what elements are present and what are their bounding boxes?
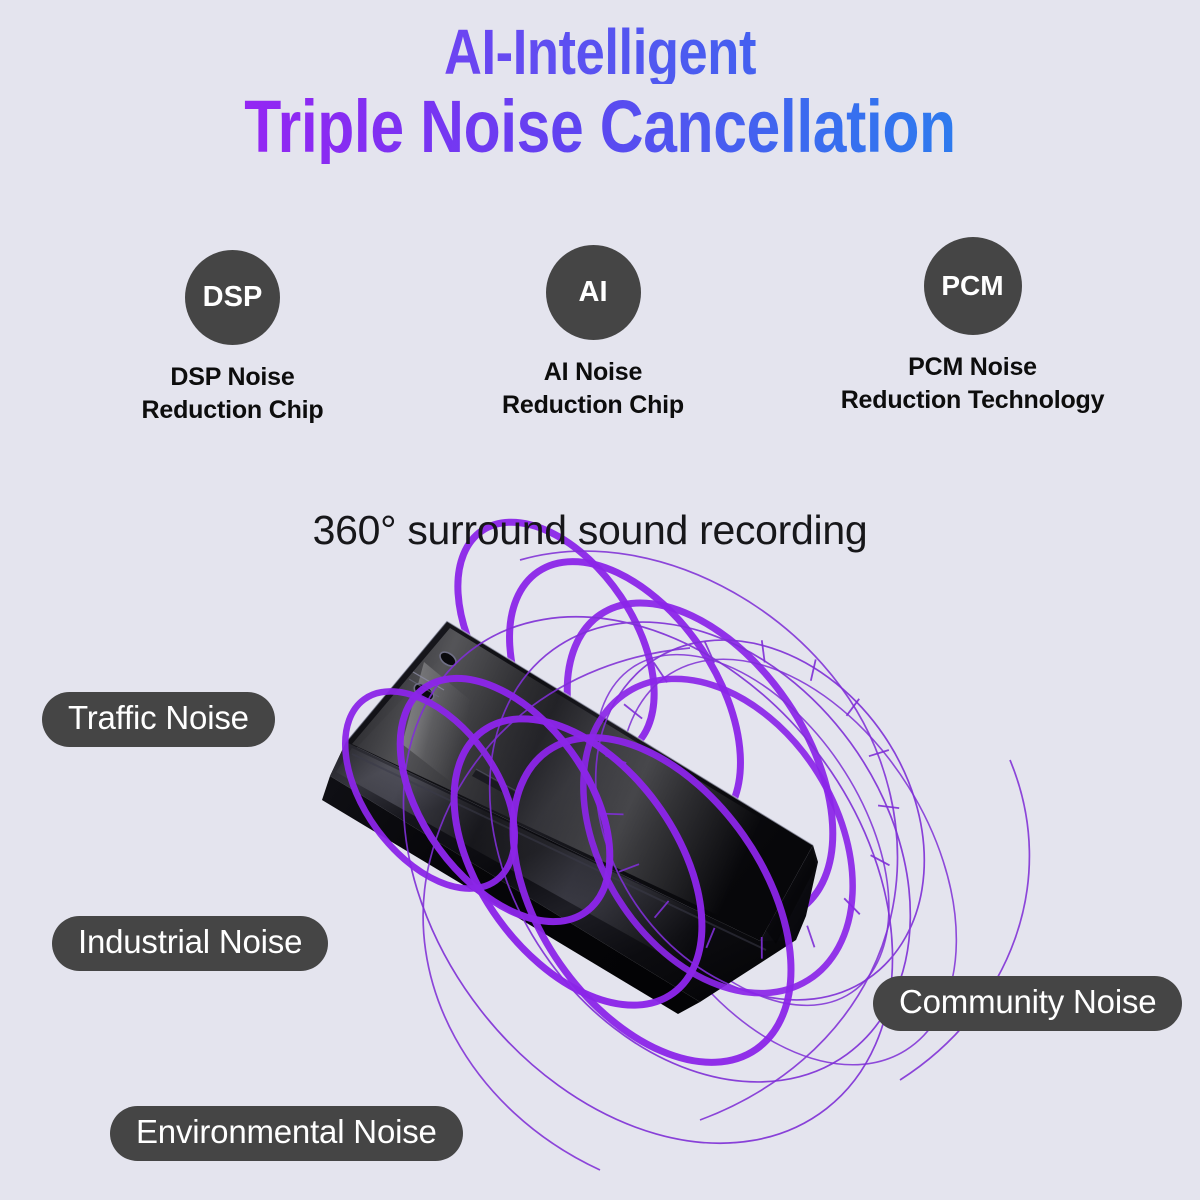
- noise-pill-community[interactable]: Community Noise: [873, 976, 1182, 1031]
- chip-label-dsp: DSP Noise Reduction Chip: [60, 361, 405, 427]
- chip-feature-pcm: PCM PCM Noise Reduction Technology: [790, 237, 1155, 417]
- headline-block: AI-Intelligent Triple Noise Cancellation: [0, 20, 1200, 164]
- headline-line-2: Triple Noise Cancellation: [108, 90, 1092, 164]
- dsp-badge-icon: DSP: [185, 250, 280, 345]
- pcm-badge-icon: PCM: [924, 237, 1022, 335]
- noise-pill-industrial[interactable]: Industrial Noise: [52, 916, 328, 971]
- chip-feature-ai: AI AI Noise Reduction Chip: [428, 245, 758, 422]
- chip-label-pcm: PCM Noise Reduction Technology: [790, 351, 1155, 417]
- headline-line-1: AI-Intelligent: [108, 20, 1092, 84]
- chip-label-ai: AI Noise Reduction Chip: [428, 356, 758, 422]
- surround-sound-subtitle: 360° surround sound recording: [0, 507, 1200, 554]
- ai-badge-icon: AI: [546, 245, 641, 340]
- noise-pill-environmental[interactable]: Environmental Noise: [110, 1106, 463, 1161]
- chip-features-row: DSP DSP Noise Reduction Chip AI AI Noise…: [0, 236, 1200, 446]
- chip-feature-dsp: DSP DSP Noise Reduction Chip: [60, 250, 405, 427]
- noise-pill-traffic[interactable]: Traffic Noise: [42, 692, 275, 747]
